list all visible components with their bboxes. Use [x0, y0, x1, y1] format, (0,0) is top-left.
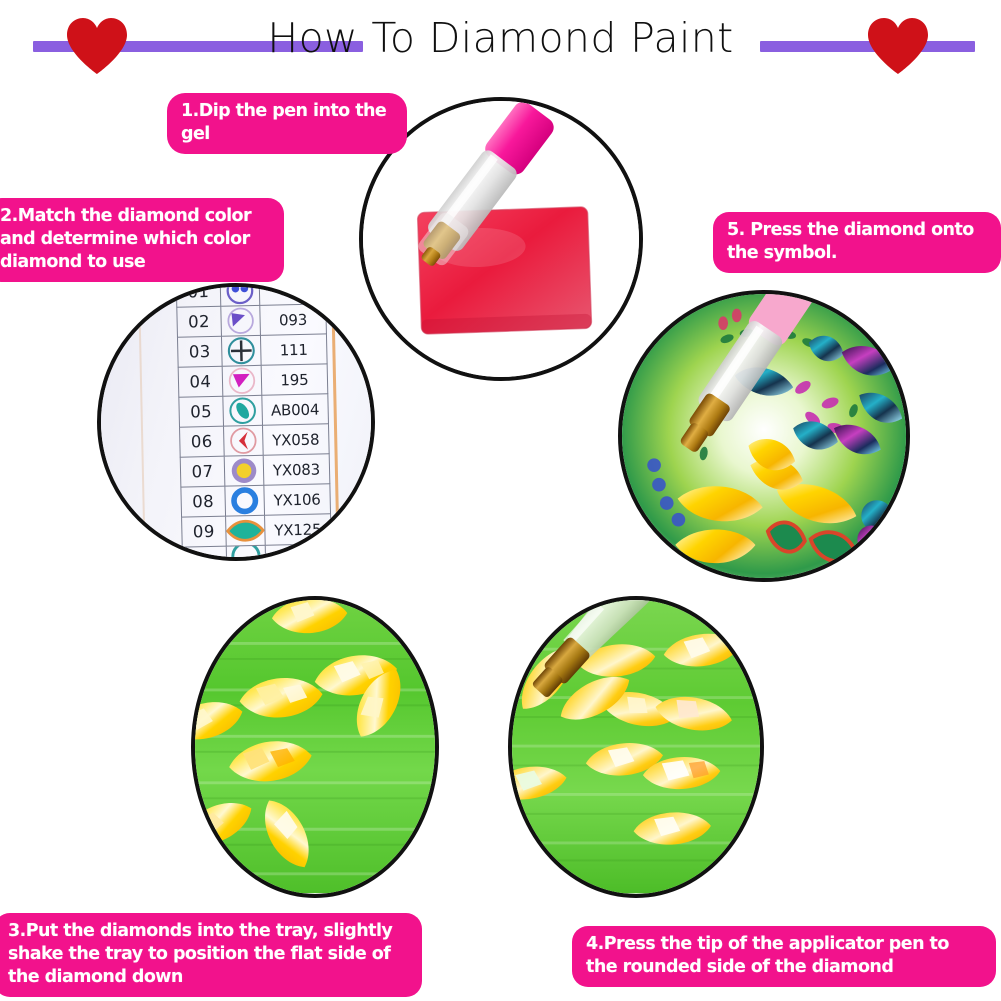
purple-triangle-symbol [221, 305, 261, 336]
photo-step-5-place-on-symbol [618, 290, 910, 582]
table-row: 04 195 [178, 364, 328, 397]
table-row: 03 111 [177, 334, 327, 367]
row-number: 01 [176, 283, 221, 307]
step-1-label: 1.Dip the pen into the gel [167, 93, 407, 154]
header-band: How To Diamond Paint [0, 0, 1001, 88]
row-code: YX083 [263, 454, 330, 485]
row-number: 06 [180, 426, 225, 457]
row-number: 07 [180, 456, 225, 487]
magenta-triangle-symbol [222, 365, 262, 396]
step-5-label: 5. Press the diamond onto the symbol. [713, 212, 1001, 273]
double-dot-circle-symbol [220, 283, 260, 306]
step-3-label: 3.Put the diamonds into the tray, slight… [0, 913, 422, 997]
teal-marquise-symbol [225, 515, 265, 546]
row-code [265, 544, 332, 561]
row-number [182, 546, 227, 561]
row-code: AB004 [262, 394, 329, 425]
row-code: 195 [261, 364, 328, 395]
sheet-fold-line [138, 283, 146, 561]
infographic-poster: How To Diamond Paint [0, 0, 1001, 1001]
table-row: 05 AB004 [179, 394, 329, 427]
photo-step-4-pen-presses-diamond [508, 596, 764, 898]
sheet-fold-line [331, 283, 340, 561]
red-chevron-symbol [223, 425, 263, 456]
table-row [182, 544, 332, 561]
row-code: 093 [260, 304, 327, 335]
step-4-label: 4.Press the tip of the applicator pen to… [572, 926, 996, 987]
table-row: 08 YX106 [181, 484, 331, 517]
partial-symbol [226, 545, 266, 561]
row-number: 03 [177, 336, 222, 367]
row-code: 111 [260, 334, 327, 365]
table-row: 02 093 [177, 304, 327, 337]
row-number: 02 [177, 306, 222, 337]
row-code: 020 [259, 283, 326, 305]
table-row: 06 YX058 [180, 424, 330, 457]
yellow-dot-ring-symbol [224, 455, 264, 486]
blue-ring-symbol [225, 485, 265, 516]
photo-step-2-color-chart: 01 020 02 093 03 [97, 283, 375, 561]
table-row: 09 YX125 [182, 514, 332, 547]
row-code: YX125 [264, 514, 331, 545]
row-number: 09 [182, 516, 227, 547]
teal-plus-circle-symbol [221, 335, 261, 366]
row-number: 05 [179, 396, 224, 427]
step-2-label: 2.Match the diamond color and determine … [0, 198, 284, 282]
row-code: YX106 [264, 484, 331, 515]
teal-oval-symbol [223, 395, 263, 426]
row-number: 08 [181, 486, 226, 517]
row-code: YX058 [262, 424, 329, 455]
page-title: How To Diamond Paint [0, 14, 1001, 62]
table-row: 07 YX083 [180, 454, 330, 487]
color-code-table: 01 020 02 093 03 [176, 283, 333, 561]
photo-step-3-diamonds-in-tray [191, 596, 439, 898]
row-number: 04 [178, 366, 223, 397]
